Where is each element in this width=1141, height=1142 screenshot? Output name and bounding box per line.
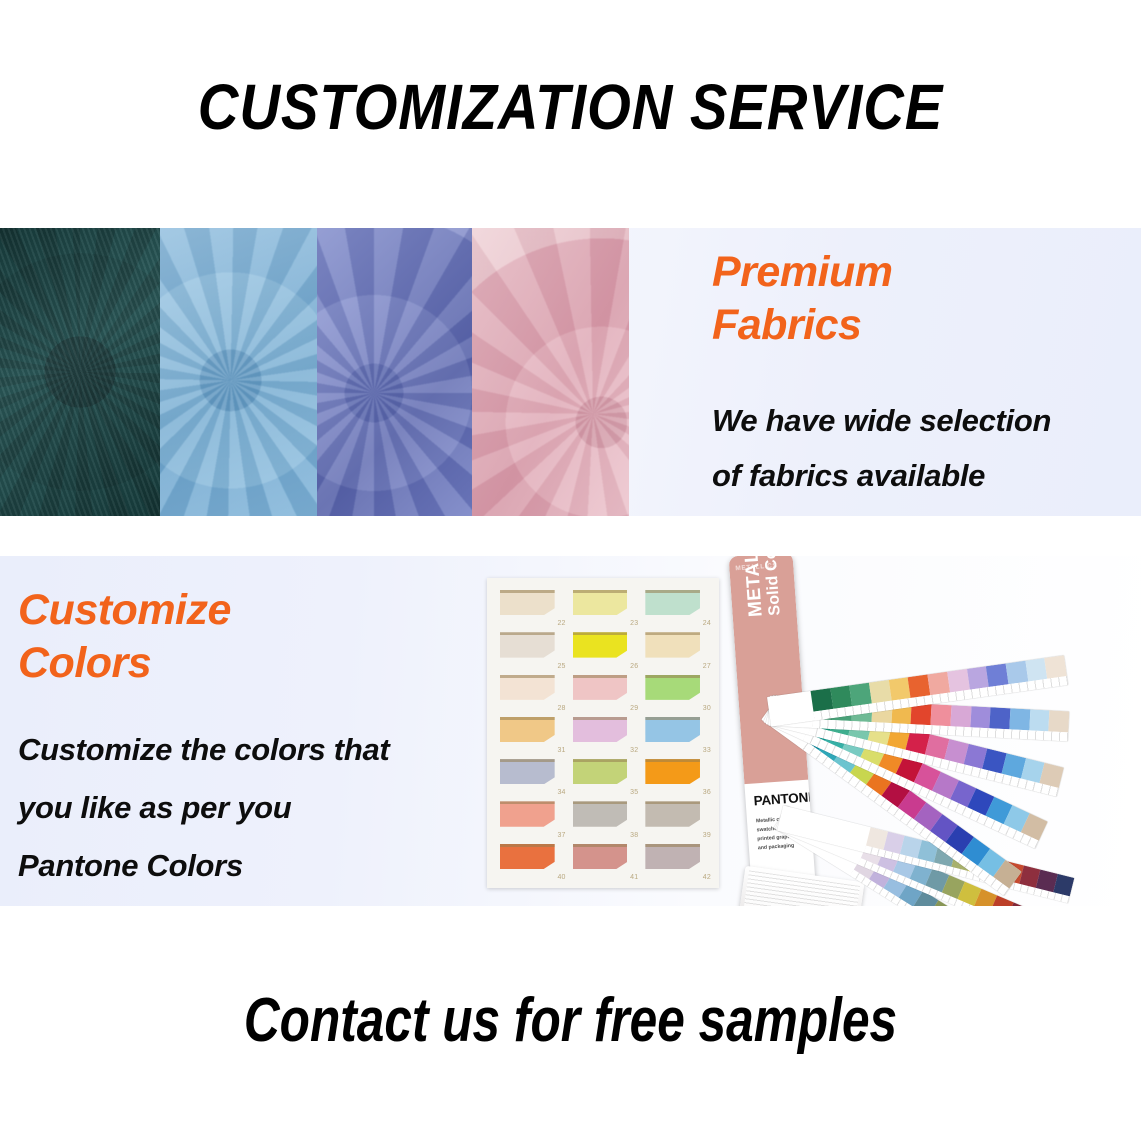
- swatch-cell-33: 33: [641, 714, 712, 754]
- swatch-number: 40: [557, 874, 565, 881]
- swatch-chip: [500, 801, 555, 826]
- swatch-chip: [573, 844, 628, 869]
- contact-cta: Contact us for free samples: [114, 985, 1027, 1056]
- premium-fabrics-heading-line1: Premium: [712, 246, 1132, 299]
- swatch-chip: [500, 675, 555, 700]
- swatch-cell-27: 27: [641, 629, 712, 669]
- swatch-number: 23: [630, 620, 638, 627]
- customize-colors-heading: Customize Colors: [18, 584, 488, 691]
- swatch-number: 37: [557, 832, 565, 839]
- swatch-cell-40: 40: [496, 841, 567, 881]
- swatch-cell-31: 31: [496, 714, 567, 754]
- swatch-cell-39: 39: [641, 798, 712, 838]
- customize-colors-heading-line2: Colors: [18, 637, 488, 690]
- customize-colors-heading-line1: Customize: [18, 584, 488, 637]
- fabric-sheen: [0, 228, 160, 516]
- premium-fabrics-body-line2: of fabrics available: [712, 448, 1132, 503]
- customize-colors-body-line1: Customize the colors that: [18, 721, 488, 779]
- swatch-cell-22: 22: [496, 587, 567, 627]
- page-title: CUSTOMIZATION SERVICE: [68, 70, 1072, 144]
- color-swatch-card: 2223242526272829303132333435363738394041…: [487, 578, 719, 888]
- fabric-sheen: [472, 228, 629, 516]
- swatch-cell-37: 37: [496, 798, 567, 838]
- swatch-number: 29: [630, 705, 638, 712]
- swatch-number: 35: [630, 789, 638, 796]
- customize-colors-body-line2: you like as per you: [18, 779, 488, 837]
- customize-colors-body-line3: Pantone Colors: [18, 837, 488, 895]
- swatch-chip: [500, 844, 555, 869]
- premium-fabrics-panel: Premium Fabrics We have wide selection o…: [0, 228, 1141, 516]
- swatch-chip: [573, 759, 628, 784]
- fabric-sheen: [317, 228, 472, 516]
- swatch-number: 42: [703, 874, 711, 881]
- swatch-chip: [645, 675, 700, 700]
- swatch-chip: [500, 717, 555, 742]
- swatch-cell-26: 26: [569, 629, 640, 669]
- swatch-cell-35: 35: [569, 756, 640, 796]
- customize-colors-panel: Customize Colors Customize the colors th…: [0, 556, 1141, 906]
- fabric-image-strip: [0, 228, 629, 516]
- fabric-swatch-light-blue-jersey: [160, 228, 317, 516]
- customize-colors-body: Customize the colors that you like as pe…: [18, 721, 488, 896]
- fabric-swatch-blush-pink-satin: [472, 228, 629, 516]
- swatch-chip: [500, 632, 555, 657]
- customize-colors-copy: Customize Colors Customize the colors th…: [18, 584, 488, 895]
- swatch-cell-23: 23: [569, 587, 640, 627]
- swatch-chip: [573, 717, 628, 742]
- swatch-cell-32: 32: [569, 714, 640, 754]
- swatch-cell-34: 34: [496, 756, 567, 796]
- swatch-number: 28: [557, 705, 565, 712]
- swatch-chip: [645, 844, 700, 869]
- swatch-number: 22: [557, 620, 565, 627]
- poster: CUSTOMIZATION SERVICE Premium: [0, 0, 1141, 1142]
- fabric-sheen: [160, 228, 317, 516]
- premium-fabrics-heading: Premium Fabrics: [712, 246, 1132, 353]
- swatch-cell-24: 24: [641, 587, 712, 627]
- swatch-chip: [645, 590, 700, 615]
- swatch-chip: [500, 759, 555, 784]
- swatch-chip: [645, 801, 700, 826]
- swatch-chip: [500, 590, 555, 615]
- swatch-number: 36: [703, 789, 711, 796]
- swatch-number: 31: [557, 747, 565, 754]
- swatch-chip: [573, 590, 628, 615]
- swatch-number: 30: [703, 705, 711, 712]
- fabric-swatch-dark-teal-ribbed-knit: [0, 228, 160, 516]
- swatch-chip: [645, 759, 700, 784]
- swatch-number: 25: [557, 663, 565, 670]
- swatch-number: 24: [703, 620, 711, 627]
- swatch-cell-38: 38: [569, 798, 640, 838]
- swatch-chip: [573, 632, 628, 657]
- swatch-cell-36: 36: [641, 756, 712, 796]
- swatch-number: 34: [557, 789, 565, 796]
- swatch-chip: [573, 801, 628, 826]
- swatch-cell-30: 30: [641, 672, 712, 712]
- swatch-number: 41: [630, 874, 638, 881]
- premium-fabrics-body-line1: We have wide selection: [712, 393, 1132, 448]
- swatch-cell-41: 41: [569, 841, 640, 881]
- swatch-chip: [645, 632, 700, 657]
- swatch-number: 26: [630, 663, 638, 670]
- swatch-number: 32: [630, 747, 638, 754]
- swatch-number: 27: [703, 663, 711, 670]
- premium-fabrics-body: We have wide selection of fabrics availa…: [712, 393, 1132, 503]
- premium-fabrics-heading-line2: Fabrics: [712, 299, 1132, 352]
- swatch-number: 39: [703, 832, 711, 839]
- swatch-cell-29: 29: [569, 672, 640, 712]
- swatch-number: 38: [630, 832, 638, 839]
- swatch-chip: [645, 717, 700, 742]
- premium-fabrics-copy: Premium Fabrics We have wide selection o…: [712, 246, 1132, 503]
- swatch-number: 33: [703, 747, 711, 754]
- swatch-cell-28: 28: [496, 672, 567, 712]
- fabric-swatch-periwinkle-crepe: [317, 228, 472, 516]
- swatch-cell-25: 25: [496, 629, 567, 669]
- swatch-chip: [573, 675, 628, 700]
- swatch-cell-42: 42: [641, 841, 712, 881]
